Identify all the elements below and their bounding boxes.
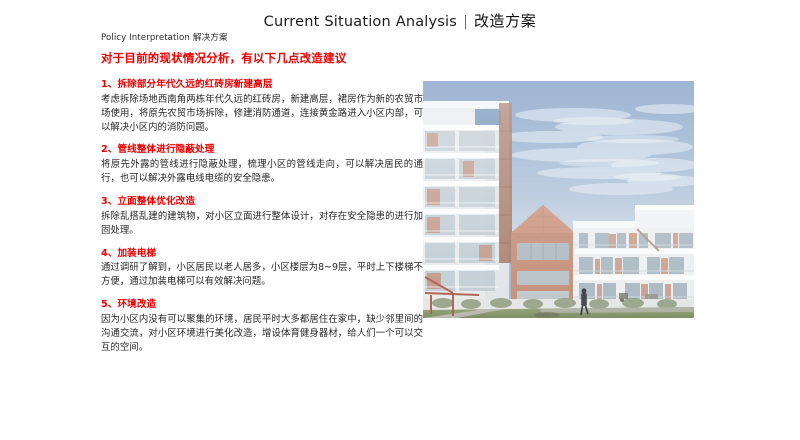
photo-illustration xyxy=(423,81,694,318)
item-title: 4、加装电梯 xyxy=(101,247,423,261)
kicker-chinese: 解决方案 xyxy=(190,33,228,43)
item-title: 2、管线整体进行隐蔽处理 xyxy=(101,143,423,157)
item-body: 拆除乱搭乱建的建筑物，对小区立面进行整体设计，对存在安全隐患的进行加固处理。 xyxy=(101,210,423,238)
title-english: Current Situation Analysis xyxy=(264,14,457,30)
content-column: Policy Interpretation解决方案 对于目前的现状情况分析，有以… xyxy=(101,34,423,363)
list-item: 5、环境改造 因为小区内没有可以聚集的环境，居民平时大多都居住在家中，缺少邻里间… xyxy=(101,298,423,354)
item-body: 通过调研了解到，小区居民以老人居多，小区楼层为8~9层，平时上下楼梯不方便，通过… xyxy=(101,261,423,289)
red-heading: 对于目前的现状情况分析，有以下几点改造建议 xyxy=(101,52,423,66)
item-body: 将原先外露的管线进行隐蔽处理，梳理小区的管线走向，可以解决居民的通行，也可以解决… xyxy=(101,158,423,186)
item-title: 3、立面整体优化改造 xyxy=(101,195,423,209)
item-title: 5、环境改造 xyxy=(101,298,423,312)
title-separator: | xyxy=(457,14,474,30)
kicker-english: Policy Interpretation xyxy=(101,33,190,43)
residential-building-photo xyxy=(423,81,694,318)
item-title: 1、拆除部分年代久远的红砖房新建高层 xyxy=(101,78,423,92)
haze-overlay xyxy=(423,81,694,318)
item-body: 考虑拆除场地西南角两栋年代久远的红砖房，新建高层，裙房作为新的农贸市场使用，将原… xyxy=(101,93,423,134)
section-kicker: Policy Interpretation解决方案 xyxy=(101,34,423,43)
item-body: 因为小区内没有可以聚集的环境，居民平时大多都居住在家中，缺少邻里间的沟通交流，对… xyxy=(101,313,423,354)
slide-root: Current Situation Analysis|改造方案 Policy I… xyxy=(0,0,800,440)
list-item: 1、拆除部分年代久远的红砖房新建高层 考虑拆除场地西南角两栋年代久远的红砖房，新… xyxy=(101,78,423,134)
list-item: 3、立面整体优化改造 拆除乱搭乱建的建筑物，对小区立面进行整体设计，对存在安全隐… xyxy=(101,195,423,238)
title-chinese: 改造方案 xyxy=(474,12,536,30)
list-item: 2、管线整体进行隐蔽处理 将原先外露的管线进行隐蔽处理，梳理小区的管线走向，可以… xyxy=(101,143,423,186)
page-title: Current Situation Analysis|改造方案 xyxy=(0,10,800,31)
list-item: 4、加装电梯 通过调研了解到，小区居民以老人居多，小区楼层为8~9层，平时上下楼… xyxy=(101,247,423,290)
